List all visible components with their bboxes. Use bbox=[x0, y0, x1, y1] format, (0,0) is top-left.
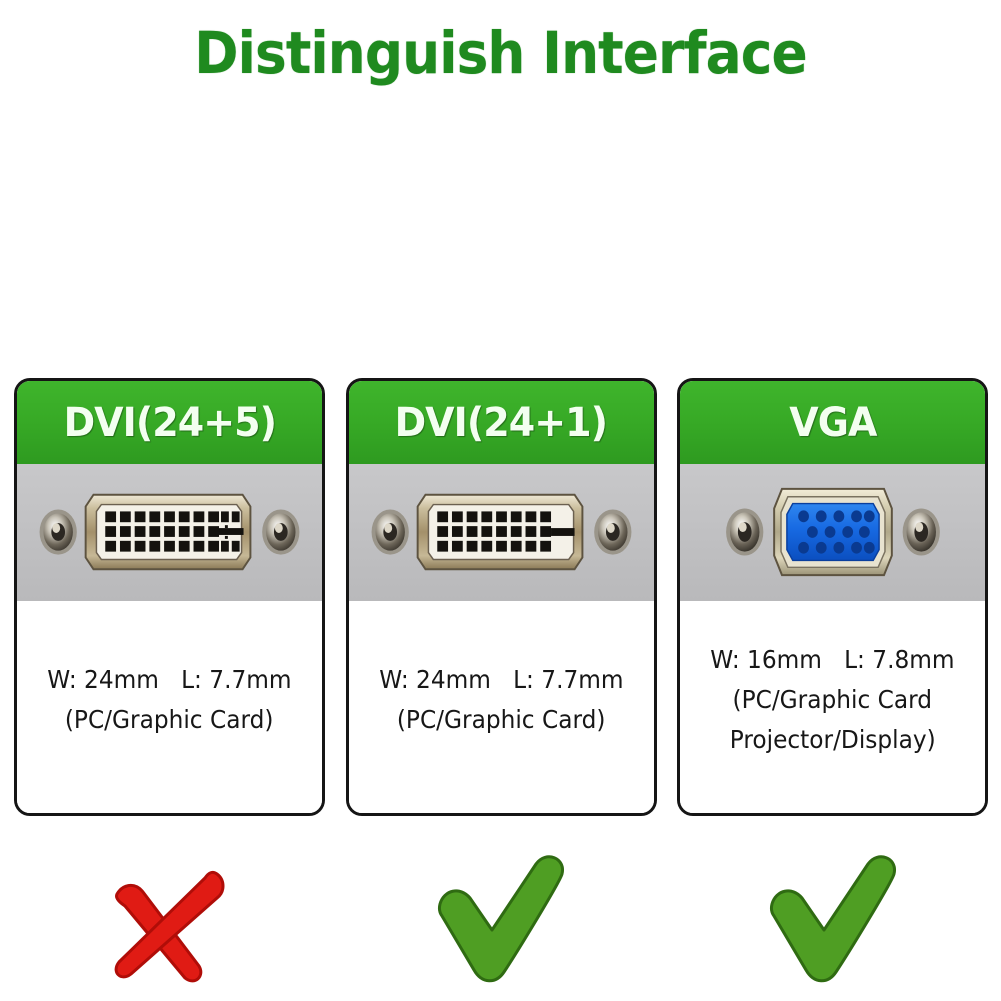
card-spec-line-usage-1: (PC/Graphic Card bbox=[733, 680, 932, 720]
card-body-dvi-24-5: W: 24mm L: 7.7mm (PC/Graphic Card) bbox=[17, 601, 322, 813]
screw-post-left bbox=[40, 509, 77, 554]
interface-card-vga[interactable]: VGA bbox=[677, 378, 988, 816]
flat-blade bbox=[551, 528, 575, 536]
red-cross-icon bbox=[95, 848, 245, 998]
card-spec-line-size: W: 16mm L: 7.8mm bbox=[710, 640, 954, 680]
card-spec-line-usage: (PC/Graphic Card) bbox=[65, 700, 274, 740]
card-header-vga: VGA bbox=[680, 381, 985, 464]
screw-post-left bbox=[371, 509, 408, 554]
card-body-vga: W: 16mm L: 7.8mm (PC/Graphic Card Projec… bbox=[680, 601, 985, 813]
dvi-24-1-connector-icon bbox=[349, 464, 654, 601]
card-header-label: DVI(24+5) bbox=[63, 403, 275, 443]
screw-post-left bbox=[726, 508, 763, 555]
card-spec-line-usage: (PC/Graphic Card) bbox=[397, 700, 606, 740]
verdict-row bbox=[14, 840, 988, 1000]
green-check-icon bbox=[426, 848, 576, 998]
card-connector-area-dvi-24-1 bbox=[349, 464, 654, 601]
card-header-dvi-24-1: DVI(24+1) bbox=[349, 381, 654, 464]
dvi-24-5-connector-icon bbox=[17, 464, 322, 601]
card-body-dvi-24-1: W: 24mm L: 7.7mm (PC/Graphic Card) bbox=[349, 601, 654, 813]
vga-connector-icon bbox=[680, 464, 985, 601]
card-spec-line-size: W: 24mm L: 7.7mm bbox=[47, 660, 291, 700]
card-connector-area-dvi-24-5 bbox=[17, 464, 322, 601]
screw-post-right bbox=[262, 509, 299, 554]
card-connector-area-vga bbox=[680, 464, 985, 601]
interface-card-dvi-24-5[interactable]: DVI(24+5) bbox=[14, 378, 325, 816]
screw-post-right bbox=[594, 509, 631, 554]
verdict-vga bbox=[677, 840, 988, 1000]
interface-card-list: DVI(24+5) bbox=[14, 378, 988, 816]
flat-blade bbox=[217, 528, 243, 535]
verdict-dvi-24-1 bbox=[346, 840, 657, 1000]
interface-card-dvi-24-1[interactable]: DVI(24+1) bbox=[346, 378, 657, 816]
card-header-label: VGA bbox=[789, 403, 876, 443]
card-spec-line-usage-2: Projector/Display) bbox=[730, 720, 936, 760]
verdict-dvi-24-5 bbox=[14, 840, 325, 1000]
card-spec-line-size: W: 24mm L: 7.7mm bbox=[379, 660, 623, 700]
card-header-dvi-24-5: DVI(24+5) bbox=[17, 381, 322, 464]
card-header-label: DVI(24+1) bbox=[395, 403, 607, 443]
green-check-icon bbox=[758, 848, 908, 998]
screw-post-right bbox=[903, 508, 940, 555]
page-title: Distinguish Interface bbox=[40, 22, 961, 84]
